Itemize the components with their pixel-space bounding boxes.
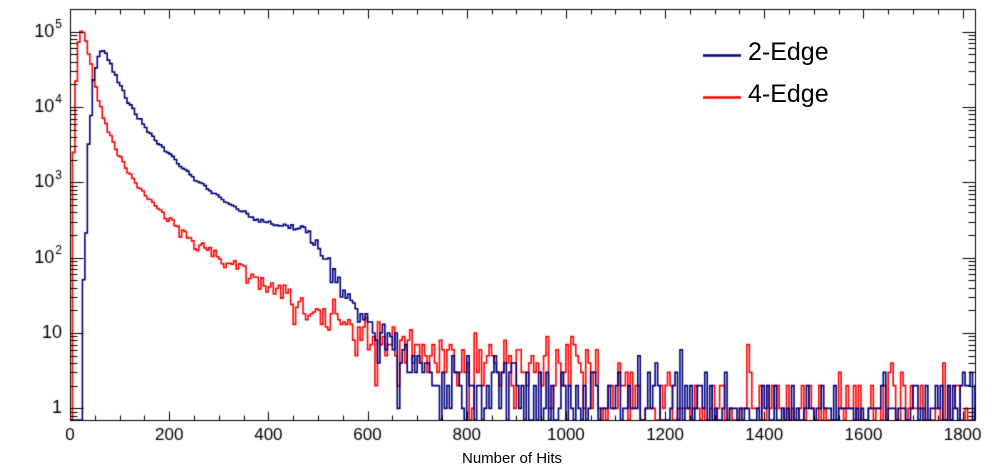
legend-label-4-edge: 4-Edge — [748, 80, 829, 109]
chart-container: Number of Hits 2-Edge 4-Edge — [0, 0, 996, 472]
x-axis-title: Number of Hits — [462, 450, 562, 467]
legend-label-2-edge: 2-Edge — [748, 38, 829, 67]
histogram-canvas — [0, 0, 996, 472]
